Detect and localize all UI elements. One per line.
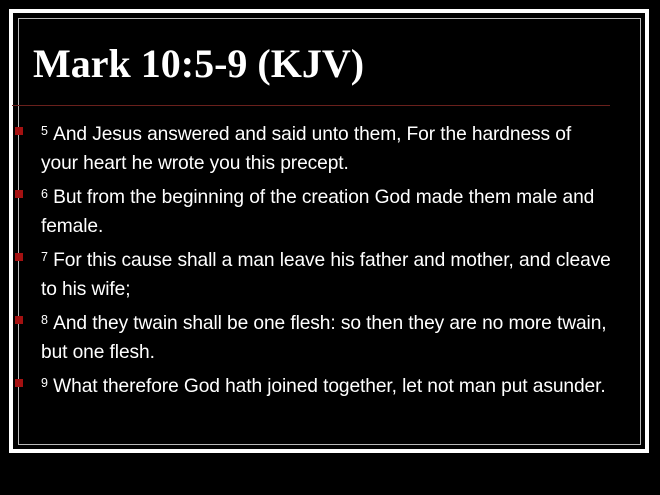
square-bullet-icon [15, 253, 23, 261]
verse-number: 9 [41, 376, 48, 390]
title-divider-line [12, 105, 610, 106]
square-bullet-icon [15, 316, 23, 324]
list-item: 8 And they twain shall be one flesh: so … [12, 306, 612, 367]
verse-list: 5 And Jesus answered and said unto them,… [12, 117, 612, 404]
square-bullet-icon [15, 127, 23, 135]
verse-number: 7 [41, 250, 48, 264]
verse-number: 5 [41, 124, 48, 138]
verse-text: And they twain shall be one flesh: so th… [41, 313, 607, 363]
list-item: 6 But from the beginning of the creation… [12, 180, 612, 241]
verse-number: 8 [41, 313, 48, 327]
square-bullet-icon [15, 379, 23, 387]
list-item: 9 What therefore God hath joined togethe… [12, 369, 612, 402]
verse-text: What therefore God hath joined together,… [53, 376, 605, 397]
square-bullet-icon [15, 190, 23, 198]
verse-number: 6 [41, 187, 48, 201]
verse-text: But from the beginning of the creation G… [41, 187, 594, 237]
list-item: 7 For this cause shall a man leave his f… [12, 243, 612, 304]
verse-text: And Jesus answered and said unto them, F… [41, 124, 571, 174]
list-item: 5 And Jesus answered and said unto them,… [12, 117, 612, 178]
verse-text: For this cause shall a man leave his fat… [41, 250, 611, 300]
presentation-slide: Mark 10:5-9 (KJV) 5 And Jesus answered a… [0, 0, 660, 495]
slide-title: Mark 10:5-9 (KJV) [33, 41, 364, 87]
